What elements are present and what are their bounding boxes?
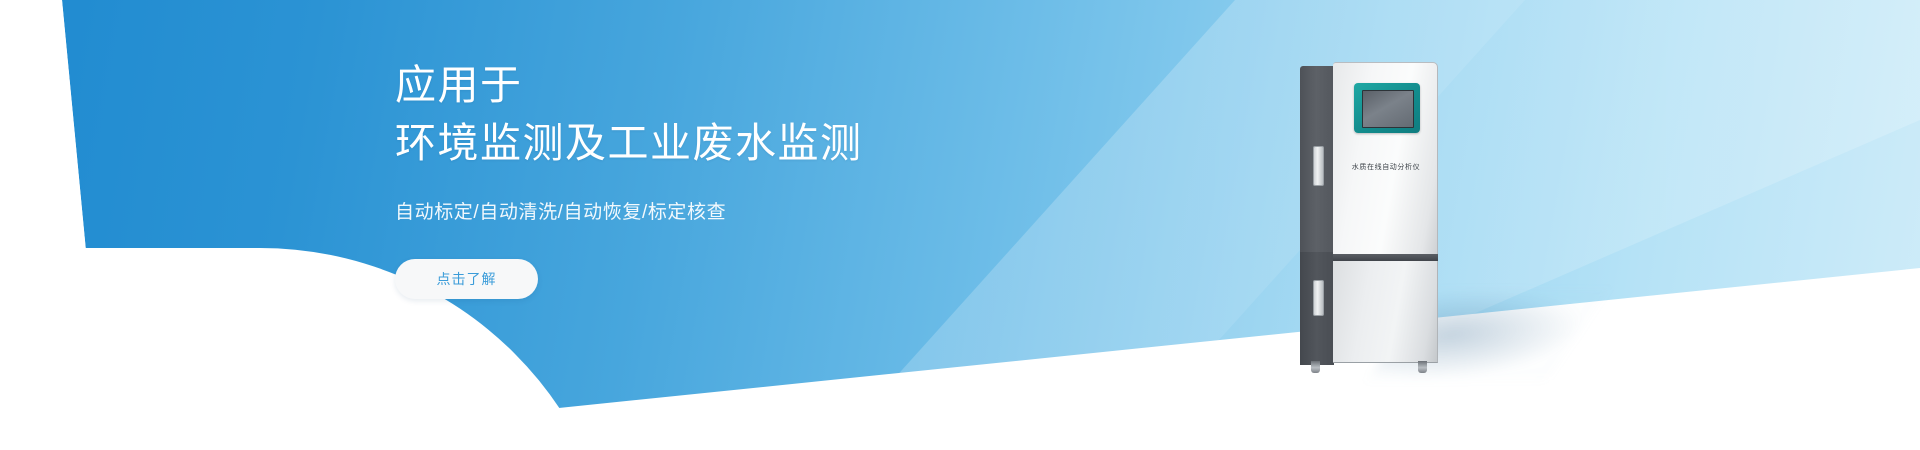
headline-line-1: 应用于 [395, 56, 1115, 114]
caster-right [1418, 361, 1427, 373]
cabinet-handle-upper [1313, 146, 1324, 186]
product-image: 水质在线自动分析仪 [1300, 62, 1540, 392]
display-bezel [1354, 83, 1420, 133]
banner-content: 应用于 环境监测及工业废水监测 自动标定/自动清洗/自动恢复/标定核查 点击了解 [395, 56, 1115, 299]
learn-more-button[interactable]: 点击了解 [395, 259, 538, 299]
headline-line-2: 环境监测及工业废水监测 [395, 114, 1115, 172]
analyzer-cabinet: 水质在线自动分析仪 [1300, 62, 1437, 374]
cabinet-handle-lower [1313, 280, 1324, 316]
product-label: 水质在线自动分析仪 [1336, 162, 1436, 172]
hero-banner: 应用于 环境监测及工业废水监测 自动标定/自动清洗/自动恢复/标定核查 点击了解… [0, 0, 1920, 450]
caster-left [1311, 361, 1320, 373]
cabinet-front-lower [1333, 261, 1438, 363]
banner-subtitle: 自动标定/自动清洗/自动恢复/标定核查 [395, 199, 1115, 227]
page-title: 应用于 环境监测及工业废水监测 [395, 56, 1115, 172]
display-screen [1362, 90, 1414, 128]
